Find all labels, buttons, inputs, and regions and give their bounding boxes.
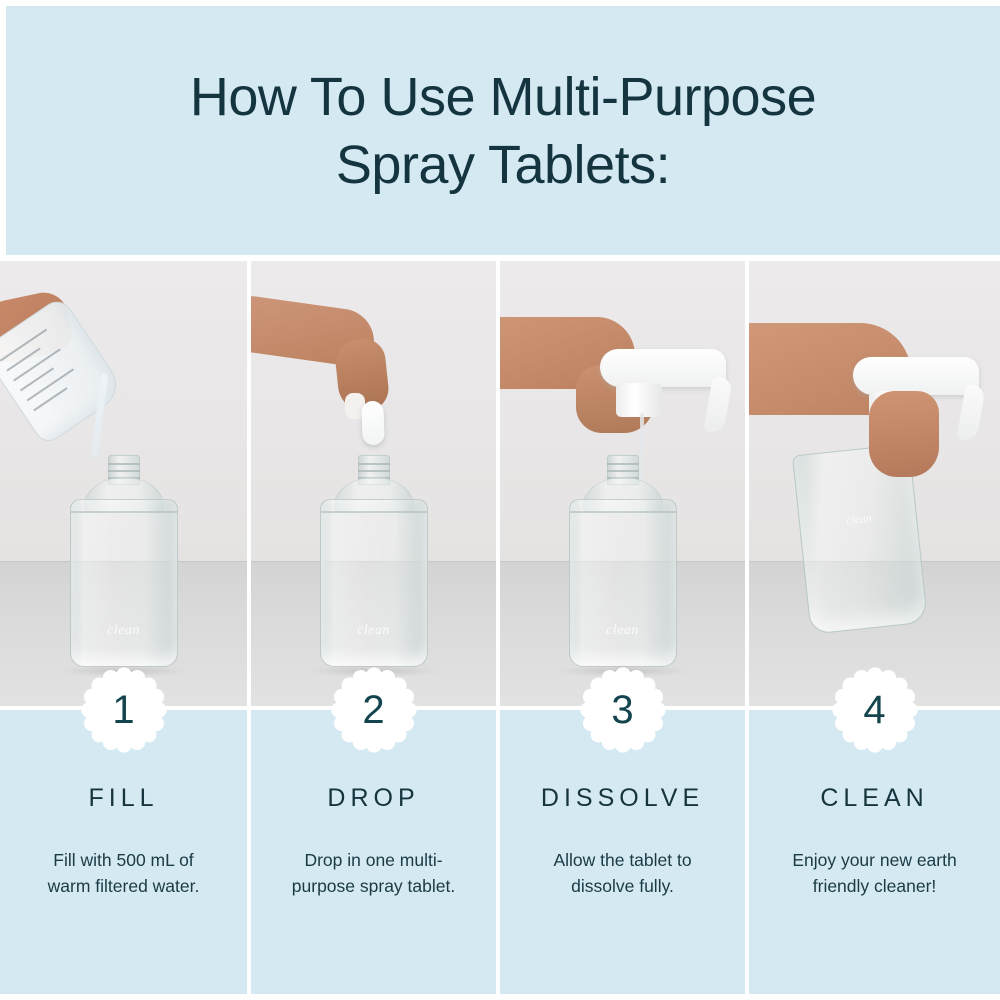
page-title-line-2: Spray Tablets: [336, 131, 670, 199]
step-photo-1: clean [0, 261, 247, 706]
page-title-line-1: How To Use Multi-Purpose [190, 63, 816, 131]
glass-bottle-icon: clean [70, 455, 178, 667]
step-description-line: Drop in one multi- [273, 847, 474, 873]
step-photo-4: clean [749, 261, 1000, 706]
bottle-brand-label: clean [320, 623, 428, 639]
step-description-line: dissolve fully. [522, 873, 723, 899]
glass-bottle-icon: clean [320, 455, 428, 667]
step-text-row: FILL Fill with 500 mL of warm filtered w… [0, 710, 1000, 994]
step-description-line: Fill with 500 mL of [22, 847, 225, 873]
step-column-4: CLEAN Enjoy your new earth friendly clea… [749, 710, 1000, 994]
bottle-shadow [557, 665, 689, 677]
infographic-page: How To Use Multi-Purpose Spray Tablets: [0, 0, 1000, 1000]
step-label-dissolve: DISSOLVE [500, 784, 745, 813]
bottle-shadow [308, 665, 440, 677]
step-label-clean: CLEAN [749, 784, 1000, 813]
step-description-line: Allow the tablet to [522, 847, 723, 873]
bottle-brand-label: clean [569, 623, 677, 639]
step-column-2: DROP Drop in one multi- purpose spray ta… [251, 710, 496, 994]
step-photo-2: clean [251, 261, 496, 706]
step-description-line: Enjoy your new earth [771, 847, 978, 873]
fingers-icon [869, 391, 939, 477]
spray-head-icon [853, 357, 979, 395]
step-description-1: Fill with 500 mL of warm filtered water. [0, 847, 247, 899]
step-description-line: purpose spray tablet. [273, 873, 474, 899]
header-banner: How To Use Multi-Purpose Spray Tablets: [6, 6, 1000, 255]
step-column-1: FILL Fill with 500 mL of warm filtered w… [0, 710, 247, 994]
step-description-4: Enjoy your new earth friendly cleaner! [749, 847, 1000, 899]
bottle-brand-label: clean [70, 623, 178, 639]
step-photo-3: clean [500, 261, 745, 706]
step-label-drop: DROP [251, 784, 496, 813]
glass-bottle-icon: clean [569, 455, 677, 667]
step-description-2: Drop in one multi- purpose spray tablet. [251, 847, 496, 899]
spray-head-icon [600, 349, 726, 387]
step-description-3: Allow the tablet to dissolve fully. [500, 847, 745, 899]
step-label-fill: FILL [0, 784, 247, 813]
tablet-icon [361, 401, 385, 446]
step-description-line: friendly cleaner! [771, 873, 978, 899]
step-column-3: DISSOLVE Allow the tablet to dissolve fu… [500, 710, 745, 994]
bottle-brand-label: clean [800, 506, 919, 533]
photo-strip: clean clean [0, 261, 1000, 706]
spray-collar-icon [616, 383, 662, 417]
bottle-shadow [58, 665, 190, 677]
step-description-line: warm filtered water. [22, 873, 225, 899]
